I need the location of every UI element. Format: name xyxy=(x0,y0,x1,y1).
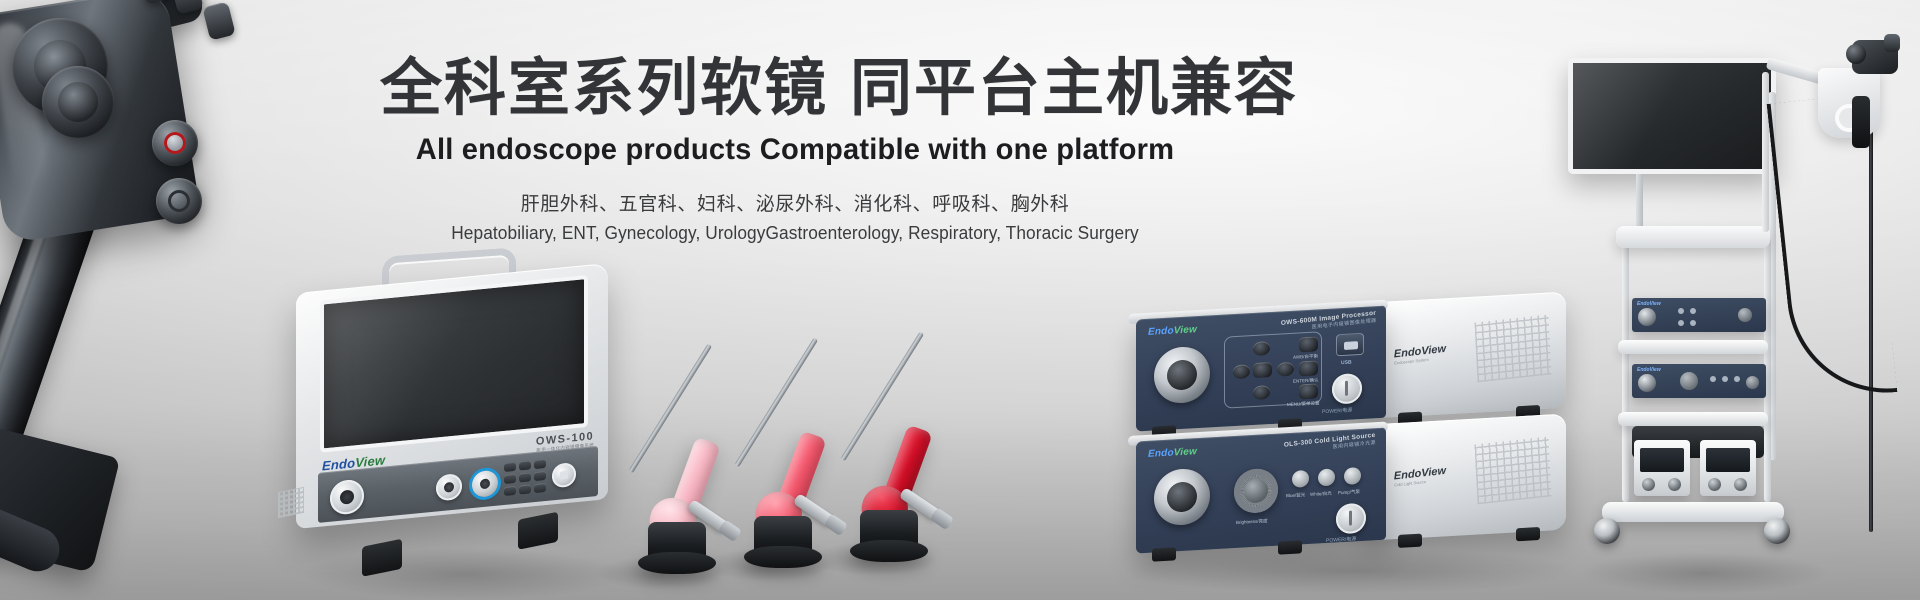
lightsource-foot-mid xyxy=(1278,540,1302,554)
cart-processor-dot-1 xyxy=(1678,308,1684,314)
cold-light-source-unit: EndoViewCold Light Source EndoView OLS-3… xyxy=(1128,416,1558,558)
brand-text-view: View xyxy=(355,452,385,470)
scope-angulation-dial-small xyxy=(42,66,114,138)
accessory-2-knob-right xyxy=(1734,478,1747,491)
lightsource-pump-button xyxy=(1344,467,1361,485)
cart-lightsource-power xyxy=(1746,376,1759,389)
cart-middle-shelf xyxy=(1618,340,1768,354)
cart-lightsource-dot-3 xyxy=(1734,376,1740,382)
processor-down-button xyxy=(1253,385,1270,400)
lightsource-pump-label: Pump/气泵 xyxy=(1338,489,1360,496)
lightsource-power-button xyxy=(1336,503,1366,535)
cart-lightsource-brand: EndoView xyxy=(1637,367,1661,373)
cart-processor-dot-3 xyxy=(1678,320,1684,326)
processor-vent-grille xyxy=(1474,315,1551,383)
cart-processor-port xyxy=(1638,308,1656,326)
lightsource-blue-label: Blue/蓝光 xyxy=(1286,492,1305,499)
workstation-chassis: OWS-100 医用一体化内窥镜摄像系统 EndoView xyxy=(296,263,608,529)
departments-chinese: 肝胆外科、五官科、妇科、泌尿外科、消化科、呼吸科、胸外科 xyxy=(380,192,1210,218)
cart-lower-shelf xyxy=(1618,412,1768,426)
workstation-display-screen xyxy=(320,275,588,453)
brand-text-endo: Endo xyxy=(1148,447,1174,459)
scope-air-water-valve xyxy=(156,178,202,224)
hanging-scope-umbilical-loop xyxy=(1767,94,1898,403)
processor-front-face: EndoView OWS-600M Image Processor 医用电子内窥… xyxy=(1136,306,1386,432)
accessory-1-knob-left xyxy=(1642,478,1655,491)
cart-rail-left xyxy=(1622,238,1629,502)
workstation-keypad xyxy=(504,459,548,505)
processor-side-brand: EndoViewEndoscope System xyxy=(1394,343,1447,366)
cart-accessory-device-2 xyxy=(1700,440,1756,496)
workstation-foot-right xyxy=(518,512,558,550)
hanging-scope-dial xyxy=(1846,44,1866,64)
accessory-2-knob-left xyxy=(1708,478,1721,491)
cart-processor-dot-2 xyxy=(1690,308,1696,314)
cart-caster-right xyxy=(1764,518,1790,544)
processor-menu-label: MENU/菜单设置 xyxy=(1287,400,1320,408)
cart-top-shelf xyxy=(1616,226,1770,248)
processor-usb-label: USB xyxy=(1341,360,1352,367)
lightsource-white-button xyxy=(1318,468,1335,486)
brand-text-endo: Endo xyxy=(1148,325,1174,337)
processor-control-group: AWB/白平衡 ENTER/确认 MENU/菜单设置 xyxy=(1224,331,1322,408)
accessory-2-screen xyxy=(1706,448,1750,472)
processor-menu2-button xyxy=(1299,383,1318,399)
usb-port-icon xyxy=(1336,333,1364,357)
hanging-scope-connector xyxy=(1852,96,1870,148)
lightsource-fiber-port xyxy=(1154,467,1210,526)
cart-lightsource-dot-1 xyxy=(1710,376,1716,382)
lightsource-brand-logo: EndoView xyxy=(1148,446,1197,460)
accessory-1-screen xyxy=(1640,448,1684,472)
banner-copy: 全科室系列软镜同平台主机兼容 All endoscope products Co… xyxy=(380,52,1210,246)
rigid-scope-base xyxy=(648,522,706,562)
cart-brightness-knob xyxy=(1680,372,1698,390)
lightsource-foot-left xyxy=(1152,547,1176,561)
endoscopy-tower-cart: EndoView EndoView xyxy=(1588,40,1918,592)
processor-side-panel: EndoViewEndoscope System xyxy=(1370,292,1566,419)
lightsource-foot-far xyxy=(1516,527,1540,541)
processor-model-label: OWS-600M Image Processor 医用电子内窥镜图像处理器 xyxy=(1280,310,1376,334)
scope-lower-grip xyxy=(0,425,120,573)
processor-up-button xyxy=(1253,341,1270,356)
lightsource-vent-grille xyxy=(1474,437,1551,505)
lightsource-blue-button xyxy=(1292,470,1309,488)
processor-lightsource-stack: EndoViewEndoscope System EndoView OWS-60… xyxy=(1128,300,1568,590)
processor-power-button xyxy=(1332,373,1362,405)
brightness-knob xyxy=(1234,468,1278,514)
cart-lightsource-unit: EndoView xyxy=(1632,364,1766,398)
cart-processor-unit: EndoView xyxy=(1632,298,1766,332)
hanging-flexible-endoscope xyxy=(1806,40,1916,540)
brand-text-view: View xyxy=(1174,446,1197,458)
cart-base-platform xyxy=(1602,502,1784,522)
processor-right-button xyxy=(1277,362,1294,377)
departments-english: Hepatobiliary, ENT, Gynecology, UrologyG… xyxy=(397,221,1194,246)
rigid-scope-base xyxy=(860,510,918,550)
processor-power-label: POWER/电源 xyxy=(1322,406,1352,415)
cart-monitor-stem xyxy=(1636,174,1643,232)
brand-text-endo: Endo xyxy=(322,455,355,473)
processor-brand-logo: EndoView xyxy=(1148,324,1197,338)
cart-display-monitor xyxy=(1568,58,1776,174)
scope-function-button-3 xyxy=(202,1,235,40)
processor-enter-button xyxy=(1299,360,1318,376)
cart-processor-brand: EndoView xyxy=(1637,301,1661,307)
brand-text-view: View xyxy=(1174,324,1197,336)
cart-processor-power xyxy=(1738,308,1752,322)
flexible-endoscope-control-head xyxy=(0,0,300,600)
rigid-scope-base xyxy=(754,516,812,556)
workstation-vent-grille xyxy=(278,487,304,518)
headline-cn-part1: 全科室系列软镜 xyxy=(380,54,828,123)
lightsource-side-panel: EndoViewCold Light Source xyxy=(1370,414,1566,541)
promo-banner: 全科室系列软镜同平台主机兼容 All endoscope products Co… xyxy=(0,0,1920,600)
processor-scope-connector-port xyxy=(1154,345,1210,404)
cart-processor-dot-4 xyxy=(1690,320,1696,326)
lightsource-foot-right xyxy=(1398,534,1422,548)
workstation-foot-left xyxy=(362,539,402,577)
processor-menu-button xyxy=(1253,362,1272,378)
processor-awb-button xyxy=(1299,336,1318,352)
processor-left-button xyxy=(1233,364,1250,379)
cart-caster-left xyxy=(1594,518,1620,544)
lightsource-front-face: EndoView OLS-300 Cold Light Source 医用内窥镜… xyxy=(1136,428,1386,554)
rigid-endoscope-red xyxy=(824,310,974,570)
scope-hanger-bracket xyxy=(1818,68,1880,138)
scope-hanger-post xyxy=(1762,72,1769,232)
portable-endoscope-workstation: OWS-100 医用一体化内窥镜摄像系统 EndoView xyxy=(296,252,626,592)
lightsource-white-label: White/白光 xyxy=(1310,491,1332,498)
lightsource-side-brand: EndoViewCold Light Source xyxy=(1394,465,1447,488)
lightsource-model-label: OLS-300 Cold Light Source 医用内窥镜冷光源 xyxy=(1284,432,1376,456)
lightsource-brightness-label: Brightness/亮度 xyxy=(1236,518,1268,526)
headline-english: All endoscope products Compatible with o… xyxy=(392,132,1197,168)
cart-lightsource-port xyxy=(1638,374,1656,392)
headline-chinese: 全科室系列软镜同平台主机兼容 xyxy=(380,52,1210,126)
cart-accessory-device-1 xyxy=(1634,440,1690,496)
scope-suction-valve-red xyxy=(152,120,198,166)
accessory-1-knob-right xyxy=(1668,478,1681,491)
headline-cn-part2: 同平台主机兼容 xyxy=(850,54,1298,123)
cart-lightsource-dot-2 xyxy=(1722,376,1728,382)
image-processor-unit: EndoViewEndoscope System EndoView OWS-60… xyxy=(1128,294,1558,436)
lightsource-power-label: POWER/电源 xyxy=(1326,535,1356,544)
